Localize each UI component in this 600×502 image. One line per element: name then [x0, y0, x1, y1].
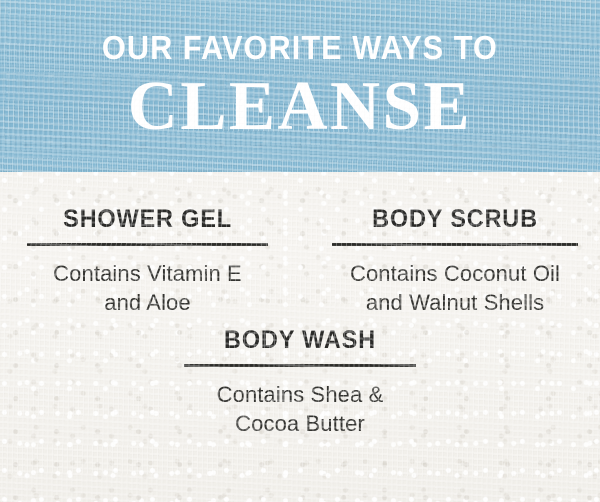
product-card-body-scrub: BODY SCRUB Contains Coconut Oil and Waln…: [295, 172, 600, 317]
header-eyebrow: OUR FAVORITE WAYS TO: [102, 31, 498, 64]
product-description-line: Contains Coconut Oil: [332, 259, 578, 288]
product-description-line: and Aloe: [27, 288, 268, 317]
product-description: Contains Coconut Oil and Walnut Shells: [332, 259, 578, 317]
product-name: BODY SCRUB: [339, 206, 570, 234]
product-card-shower-gel: SHOWER GEL Contains Vitamin E and Aloe: [0, 172, 295, 317]
product-divider: [27, 243, 268, 246]
product-description-line: Cocoa Butter: [184, 409, 416, 438]
header-content: OUR FAVORITE WAYS TO CLEANSE: [0, 0, 600, 172]
product-description-line: Contains Shea &: [184, 380, 416, 409]
product-divider: [184, 364, 416, 367]
product-divider: [332, 243, 578, 246]
header-band: OUR FAVORITE WAYS TO CLEANSE: [0, 0, 600, 172]
product-card-body-wash: BODY WASH Contains Shea & Cocoa Butter: [184, 327, 416, 438]
product-list: SHOWER GEL Contains Vitamin E and Aloe B…: [0, 172, 600, 502]
cleanse-infographic: OUR FAVORITE WAYS TO CLEANSE SHOWER GEL …: [0, 0, 600, 502]
product-description: Contains Vitamin E and Aloe: [27, 259, 268, 317]
product-description-line: Contains Vitamin E: [27, 259, 268, 288]
header-wordmark: CLEANSE: [128, 72, 472, 142]
product-name: BODY WASH: [191, 327, 409, 355]
product-description: Contains Shea & Cocoa Butter: [184, 380, 416, 438]
product-row-top: SHOWER GEL Contains Vitamin E and Aloe B…: [0, 172, 600, 317]
product-name: SHOWER GEL: [34, 206, 261, 234]
product-row-bottom: BODY WASH Contains Shea & Cocoa Butter: [0, 327, 600, 438]
product-description-line: and Walnut Shells: [332, 288, 578, 317]
